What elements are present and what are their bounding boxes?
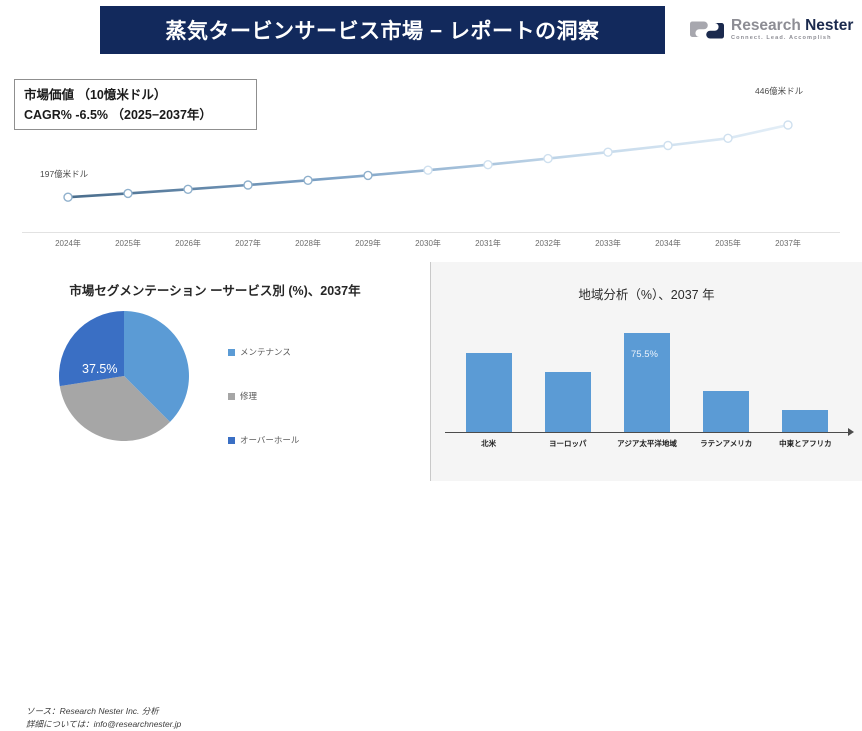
segmentation-panel: 市場セグメンテーション ーサービス別 (%)、2037年 37.5% メンテナン… — [0, 258, 430, 485]
bar-column — [624, 320, 670, 432]
x-axis-tick-label: 2027年 — [235, 238, 261, 249]
line-data-point — [484, 161, 492, 169]
start-value-label: 197億米ドル — [40, 168, 88, 180]
line-data-point — [664, 142, 672, 150]
line-chart-svg — [0, 60, 862, 235]
pie-data-label: 37.5% — [82, 362, 117, 376]
legend-item: メンテナンス — [228, 330, 299, 374]
bar-category-label: 北米 — [481, 438, 496, 449]
bar — [545, 372, 591, 432]
regional-bar-chart: 75.5% — [449, 320, 845, 432]
bar-category-label: ラテンアメリカ — [700, 438, 752, 449]
line-data-point — [424, 166, 432, 174]
x-axis-tick-label: 2033年 — [595, 238, 621, 249]
footnote-source: ソース：Research Nester Inc. 分析 — [26, 705, 181, 718]
line-data-point — [184, 185, 192, 193]
logo-name-first: Research — [731, 17, 805, 34]
line-data-point — [604, 148, 612, 156]
line-data-point — [544, 155, 552, 163]
line-data-point — [364, 171, 372, 179]
bar — [466, 353, 512, 432]
bar — [703, 391, 749, 432]
page-title: 蒸気タービンサービス市場 − レポートの洞察 — [166, 15, 600, 45]
x-axis-tick-label: 2035年 — [715, 238, 741, 249]
line-data-point — [784, 121, 792, 129]
pie-svg — [58, 310, 190, 442]
bar-category-label: 中東とアフリカ — [779, 438, 832, 449]
legend-label: 修理 — [240, 390, 257, 402]
legend-item: オーバーホール — [228, 418, 299, 462]
x-axis-tick-label: 2032年 — [535, 238, 561, 249]
x-axis-tick-label: 2030年 — [415, 238, 441, 249]
x-axis-tick-label: 2029年 — [355, 238, 381, 249]
legend-item: 修理 — [228, 374, 299, 418]
x-axis-tick-label: 2034年 — [655, 238, 681, 249]
bar — [782, 410, 828, 432]
logo-tagline: Connect. Lead. Accomplish — [731, 36, 853, 42]
bar-column — [703, 320, 749, 432]
x-axis-rule — [22, 232, 840, 233]
bar-data-label: 75.5% — [631, 349, 658, 360]
segmentation-title: 市場セグメンテーション ーサービス別 (%)、2037年 — [0, 280, 430, 299]
footnote-contact: 詳細については：info@researchnester.jp — [26, 718, 181, 731]
legend-label: メンテナンス — [240, 346, 291, 358]
x-axis-tick-label: 2028年 — [295, 238, 321, 249]
x-axis-tick-label: 2037年 — [775, 238, 801, 249]
regional-title: 地域分析（%）、2037 年 — [431, 284, 862, 303]
x-axis-year-labels: 2024年2025年2026年2027年2028年2029年2030年2031年… — [0, 238, 862, 254]
segmentation-pie-chart — [58, 310, 190, 442]
x-axis-tick-label: 2025年 — [115, 238, 141, 249]
x-axis-tick-label: 2026年 — [175, 238, 201, 249]
line-data-point — [304, 176, 312, 184]
line-data-point — [724, 134, 732, 142]
bottom-section: 市場セグメンテーション ーサービス別 (%)、2037年 37.5% メンテナン… — [0, 258, 862, 485]
x-axis-tick-label: 2031年 — [475, 238, 501, 249]
logo-name: Research Nester — [731, 18, 853, 34]
research-nester-chain-icon — [690, 18, 724, 42]
infographic-page: 蒸気タービンサービス市場 − レポートの洞察 Research Nester C… — [0, 0, 862, 485]
bar-column — [545, 320, 591, 432]
bar-column — [466, 320, 512, 432]
line-data-point — [64, 193, 72, 201]
legend-swatch-icon — [228, 393, 235, 400]
bar-axis-line — [445, 432, 849, 433]
bar — [624, 333, 670, 433]
end-value-label: 446億米ドル — [755, 85, 803, 97]
bar-category-labels: 北米ヨーロッパアジア太平洋地域ラテンアメリカ中東とアフリカ — [449, 438, 845, 452]
bar-category-label: ヨーロッパ — [549, 438, 587, 449]
regional-panel: 地域分析（%）、2037 年 75.5% 北米ヨーロッパアジア太平洋地域ラテンア… — [430, 262, 862, 481]
segmentation-legend: メンテナンス修理オーバーホール — [228, 330, 299, 462]
x-axis-tick-label: 2024年 — [55, 238, 81, 249]
line-data-point — [244, 181, 252, 189]
header-banner: 蒸気タービンサービス市場 − レポートの洞察 — [100, 6, 665, 54]
legend-label: オーバーホール — [240, 434, 299, 446]
bar-category-label: アジア太平洋地域 — [617, 438, 677, 449]
market-growth-line-chart: 197億米ドル 446億米ドル — [0, 60, 862, 235]
line-data-point — [124, 189, 132, 197]
bar-axis-arrow-icon — [848, 428, 854, 436]
logo-name-second: Nester — [805, 17, 853, 34]
legend-swatch-icon — [228, 437, 235, 444]
brand-logo: Research Nester Connect. Lead. Accomplis… — [690, 12, 850, 48]
source-footnote: ソース：Research Nester Inc. 分析 詳細については：info… — [26, 705, 181, 731]
legend-swatch-icon — [228, 349, 235, 356]
bar-column — [782, 320, 828, 432]
logo-wordmark: Research Nester Connect. Lead. Accomplis… — [731, 18, 853, 42]
